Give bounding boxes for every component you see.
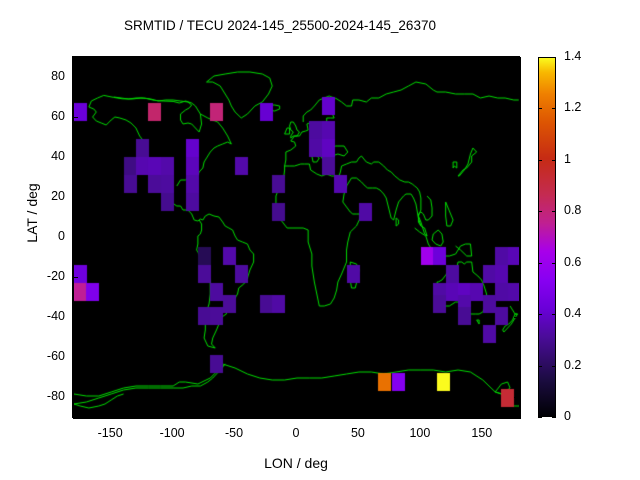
y-tick-mark bbox=[73, 117, 78, 118]
x-tick-mark bbox=[110, 412, 111, 417]
colorbar-tick-label: 1.4 bbox=[564, 49, 581, 63]
y-tick-mark bbox=[73, 157, 78, 158]
colorbar-tick-label: 0.2 bbox=[564, 358, 581, 372]
colorbar-tick-mark bbox=[538, 160, 542, 161]
x-tick-mark bbox=[358, 57, 359, 62]
x-tick-mark bbox=[358, 412, 359, 417]
y-tick-mark bbox=[73, 277, 78, 278]
colorbar-tick-label: 0.8 bbox=[564, 203, 581, 217]
y-tick-mark bbox=[514, 77, 519, 78]
x-tick-label: -150 bbox=[80, 426, 140, 440]
y-tick-label: -40 bbox=[7, 309, 65, 323]
y-tick-mark bbox=[514, 117, 519, 118]
x-tick-mark bbox=[482, 412, 483, 417]
y-tick-label: 60 bbox=[7, 109, 65, 123]
x-tick-label: 0 bbox=[266, 426, 326, 440]
y-tick-mark bbox=[73, 197, 78, 198]
y-tick-mark bbox=[73, 237, 78, 238]
colorbar-tick-mark bbox=[538, 108, 542, 109]
x-tick-label: -50 bbox=[204, 426, 264, 440]
x-tick-label: 100 bbox=[390, 426, 450, 440]
x-tick-mark bbox=[234, 57, 235, 62]
colorbar-tick-mark bbox=[552, 108, 556, 109]
x-tick-mark bbox=[420, 412, 421, 417]
y-tick-mark bbox=[514, 357, 519, 358]
colorbar-tick-mark bbox=[552, 417, 556, 418]
y-tick-mark bbox=[514, 157, 519, 158]
y-tick-label: -80 bbox=[7, 389, 65, 403]
colorbar[interactable] bbox=[538, 57, 556, 417]
plot-page: SRMTID / TECU 2024-145_25500-2024-145_26… bbox=[0, 0, 640, 480]
colorbar-tick-mark bbox=[552, 160, 556, 161]
colorbar-tick-mark bbox=[538, 366, 542, 367]
colorbar-tick-mark bbox=[552, 263, 556, 264]
y-tick-mark bbox=[514, 197, 519, 198]
x-tick-mark bbox=[172, 412, 173, 417]
colorbar-gradient bbox=[539, 58, 555, 416]
x-tick-label: -100 bbox=[142, 426, 202, 440]
colorbar-tick-mark bbox=[538, 314, 542, 315]
y-tick-label: 80 bbox=[7, 69, 65, 83]
colorbar-tick-mark bbox=[552, 314, 556, 315]
colorbar-tick-label: 0 bbox=[564, 409, 571, 423]
y-tick-mark bbox=[73, 77, 78, 78]
colorbar-tick-label: 1.2 bbox=[564, 100, 581, 114]
y-tick-mark bbox=[73, 317, 78, 318]
heatmap-grid-cells bbox=[74, 58, 520, 418]
y-tick-mark bbox=[73, 397, 78, 398]
y-tick-mark bbox=[514, 277, 519, 278]
x-tick-mark bbox=[296, 57, 297, 62]
x-tick-label: 150 bbox=[452, 426, 512, 440]
y-tick-mark bbox=[514, 237, 519, 238]
x-tick-mark bbox=[482, 57, 483, 62]
y-tick-mark bbox=[73, 357, 78, 358]
x-tick-mark bbox=[110, 57, 111, 62]
colorbar-tick-mark bbox=[538, 263, 542, 264]
page-title: SRMTID / TECU 2024-145_25500-2024-145_26… bbox=[0, 18, 560, 33]
colorbar-tick-mark bbox=[552, 57, 556, 58]
x-tick-mark bbox=[234, 412, 235, 417]
colorbar-tick-label: 0.6 bbox=[564, 255, 581, 269]
colorbar-tick-mark bbox=[552, 211, 556, 212]
colorbar-tick-mark bbox=[538, 57, 542, 58]
x-axis-label: LON / deg bbox=[73, 455, 519, 471]
colorbar-tick-label: 1 bbox=[564, 152, 571, 166]
colorbar-tick-mark bbox=[538, 417, 542, 418]
y-axis-label: LAT / deg bbox=[24, 153, 40, 273]
x-tick-mark bbox=[420, 57, 421, 62]
x-tick-mark bbox=[296, 412, 297, 417]
colorbar-tick-mark bbox=[538, 211, 542, 212]
colorbar-tick-label: 0.4 bbox=[564, 306, 581, 320]
map-plot-area[interactable] bbox=[73, 57, 521, 419]
x-tick-mark bbox=[172, 57, 173, 62]
y-tick-mark bbox=[514, 317, 519, 318]
y-tick-mark bbox=[514, 397, 519, 398]
colorbar-tick-mark bbox=[552, 366, 556, 367]
y-tick-label: -60 bbox=[7, 349, 65, 363]
x-tick-label: 50 bbox=[328, 426, 388, 440]
